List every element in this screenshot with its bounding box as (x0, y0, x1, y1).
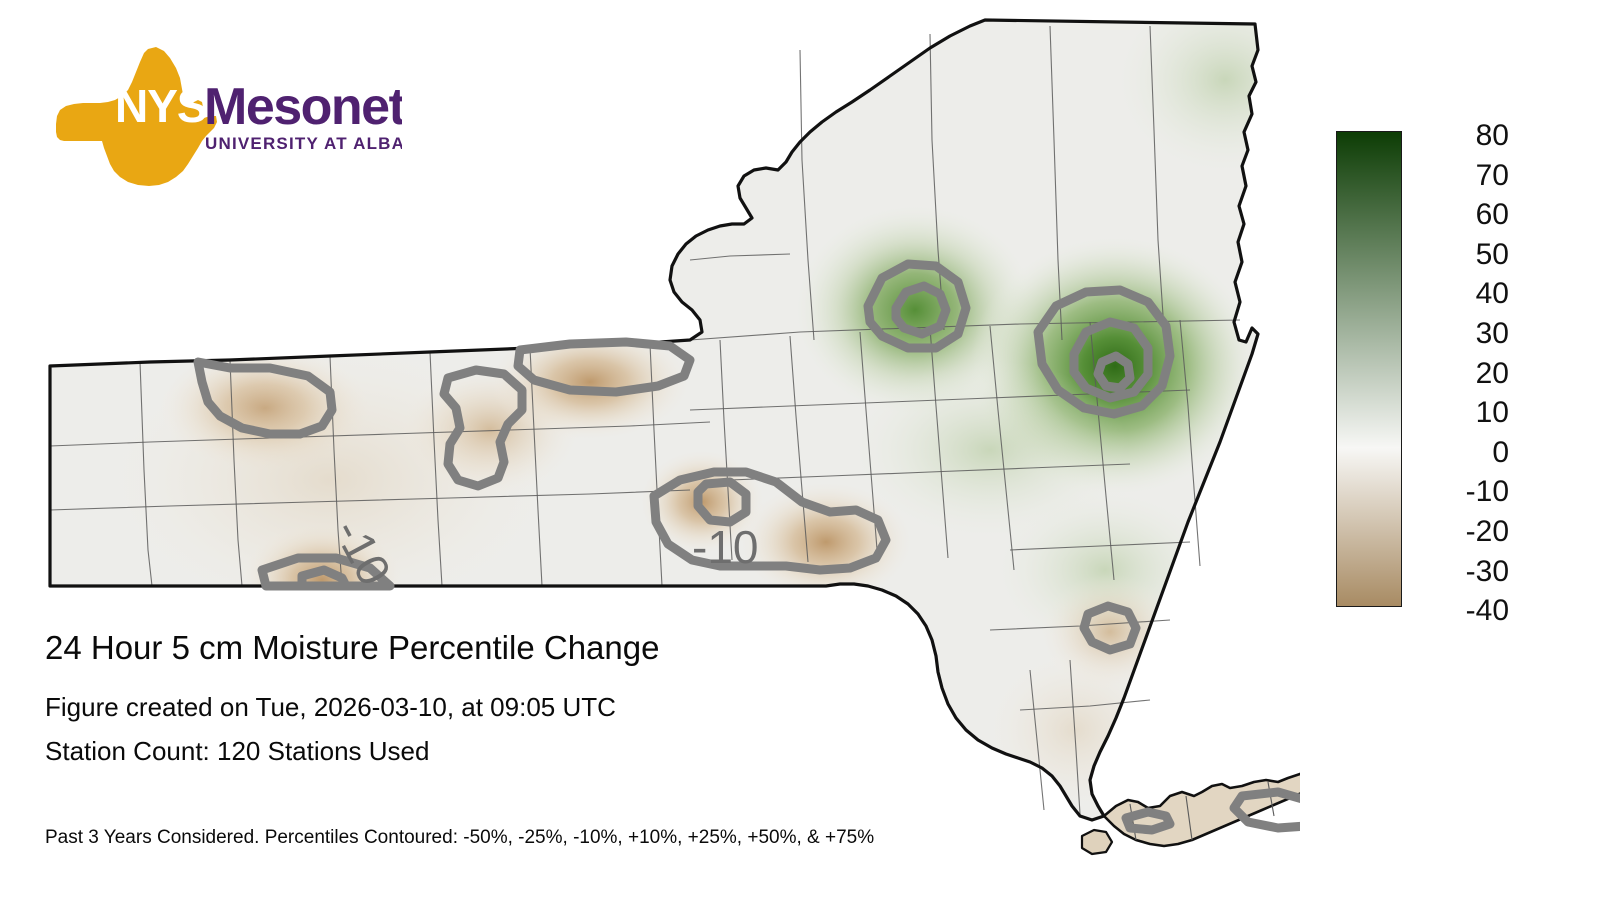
figure-caption: 24 Hour 5 cm Moisture Percentile Change … (45, 625, 1145, 773)
colorbar-tick: 10 (1406, 398, 1509, 428)
station-count-label: Station Count: 120 Stations Used (45, 729, 1145, 773)
contour-label-southern-tier: -10 (692, 521, 758, 573)
colorbar-tick: 0 (1406, 438, 1509, 468)
figure-created-timestamp: Figure created on Tue, 2026-03-10, at 09… (45, 685, 1145, 729)
colorbar-tick: 60 (1406, 200, 1509, 230)
colorbar-tick: 40 (1406, 279, 1509, 309)
colorbar-tick: 50 (1406, 240, 1509, 270)
colorbar-tick: -20 (1406, 517, 1509, 547)
colorbar-tick: -40 (1406, 596, 1509, 626)
colorbar-tick: 30 (1406, 319, 1509, 349)
staten-island-fill (1082, 830, 1112, 854)
colorbar-tick: 70 (1406, 161, 1509, 191)
colorbar-gradient (1336, 131, 1402, 607)
colorbar: 80 70 60 50 40 30 20 10 0 -10 -20 -30 -4… (1336, 121, 1566, 621)
figure-footnote: Past 3 Years Considered. Percentiles Con… (45, 826, 874, 850)
colorbar-tick: 20 (1406, 359, 1509, 389)
colorbar-tick: -10 (1406, 477, 1509, 507)
colorbar-tick: -30 (1406, 557, 1509, 587)
colorbar-tick-labels: 80 70 60 50 40 30 20 10 0 -10 -20 -30 -4… (1406, 121, 1551, 621)
colorbar-tick: 80 (1406, 121, 1509, 151)
page-title: 24 Hour 5 cm Moisture Percentile Change (45, 625, 1145, 671)
